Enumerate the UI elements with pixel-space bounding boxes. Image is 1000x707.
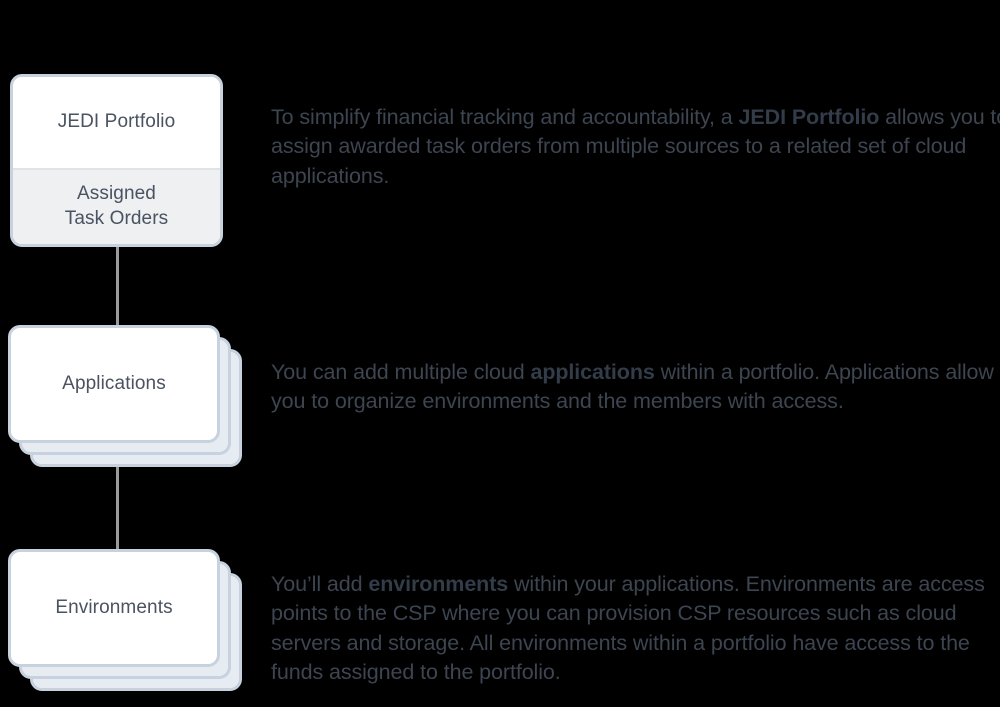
connector-applications-to-environments bbox=[116, 467, 119, 553]
node-card-applications[interactable]: Applications bbox=[8, 325, 220, 443]
node-card-environments[interactable]: Environments bbox=[8, 549, 220, 667]
connector-portfolio-to-applications bbox=[116, 243, 119, 331]
description-text-part1: You can add multiple cloud bbox=[271, 360, 530, 384]
description-emphasis-jedi-portfolio: JEDI Portfolio bbox=[739, 105, 880, 129]
card-title-applications: Applications bbox=[62, 373, 166, 395]
card-face-applications: Applications bbox=[8, 325, 220, 443]
card-title-jedi-portfolio: JEDI Portfolio bbox=[13, 77, 220, 168]
description-jedi-portfolio: To simplify financial tracking and accou… bbox=[271, 103, 1000, 192]
card-face-environments: Environments bbox=[8, 549, 220, 667]
description-emphasis-applications: applications bbox=[530, 360, 654, 384]
description-text-part1: You’ll add bbox=[271, 572, 368, 596]
description-applications: You can add multiple cloud applications … bbox=[271, 358, 1000, 417]
description-emphasis-environments: environments bbox=[368, 572, 508, 596]
node-card-jedi-portfolio[interactable]: JEDI Portfolio Assigned Task Orders bbox=[10, 74, 223, 247]
card-subsection-assigned-task-orders: Assigned Task Orders bbox=[13, 168, 220, 244]
description-text-part1: To simplify financial tracking and accou… bbox=[271, 105, 739, 129]
card-face-jedi-portfolio: JEDI Portfolio Assigned Task Orders bbox=[10, 74, 223, 247]
card-title-environments: Environments bbox=[55, 597, 172, 619]
portfolio-structure-diagram: JEDI Portfolio Assigned Task Orders Appl… bbox=[0, 0, 1000, 707]
description-environments: You’ll add environments within your appl… bbox=[271, 570, 1000, 688]
